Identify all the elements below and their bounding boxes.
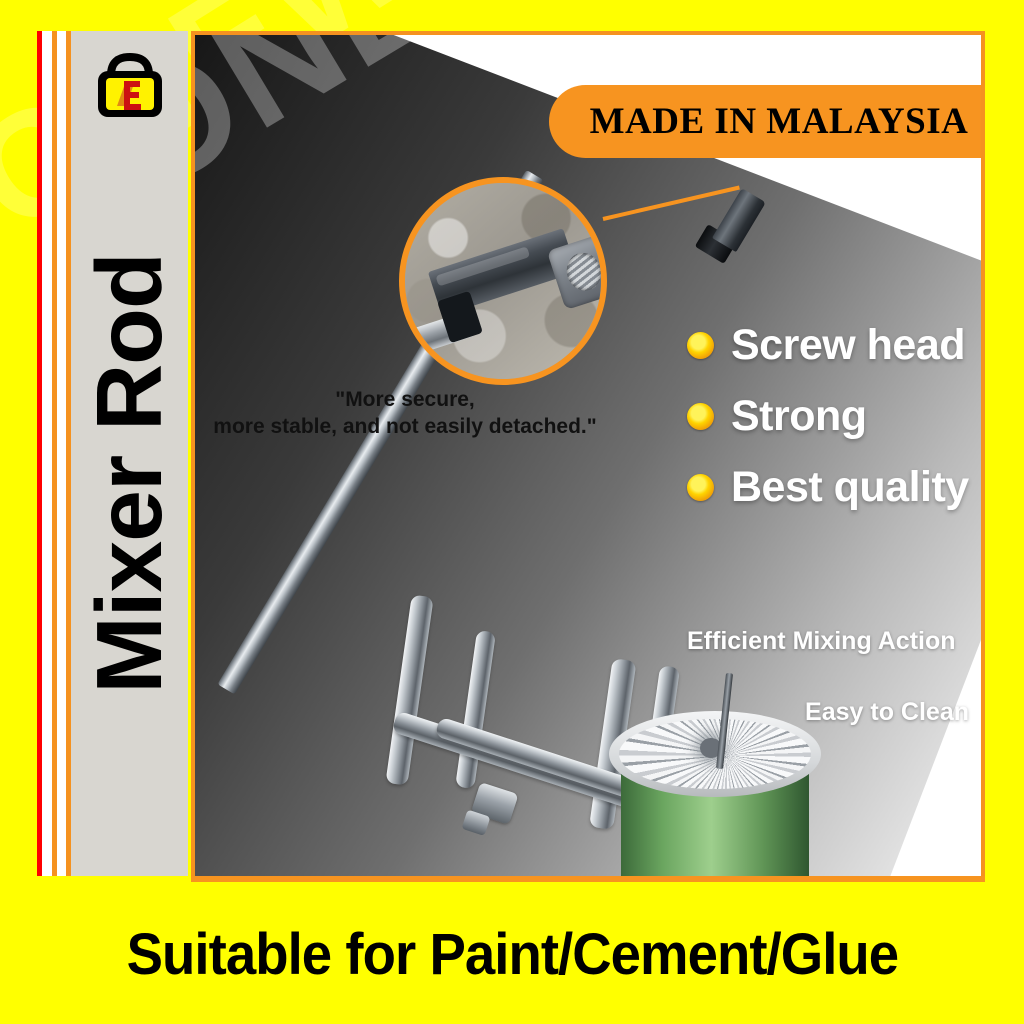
bullet-dot-icon [687,403,714,430]
page-title: Mixer Rod [71,31,188,876]
sub-feature-line2: Easy to Clean [687,698,981,727]
product-image-stage: ONEWAREHOUSE [191,31,985,876]
banner-divider [191,876,985,882]
bottom-banner: Suitable for Paint/Cement/Glue [0,884,1024,1024]
bullet-dot-icon [687,474,714,501]
magnifier-detail-circle [399,177,607,385]
left-white-stripe-1 [42,31,52,876]
sub-feature-list: Efficient Mixing Action Easy to Clean [687,627,981,727]
left-orange-stripe-1 [52,31,57,876]
left-white-stripe-2 [57,31,66,876]
feature-bullet-list: Screw head Strong Best quality [687,321,969,534]
bottom-banner-label: Suitable for Paint/Cement/Glue [126,921,898,988]
feature-bullet-item: Screw head [687,321,969,370]
feature-bullet-label: Best quality [731,463,969,512]
made-in-malaysia-label: MADE IN MALAYSIA [590,100,969,143]
vertical-title-panel: Mixer Rod [71,31,188,876]
loupe-thread-hole [562,248,606,295]
product-poster: ONEWAREHOUSE Mixer Rod ONEWAREHOUSE [0,0,1024,1024]
toolbox-logo [91,51,169,123]
left-red-stripe [37,31,42,876]
feature-bullet-label: Strong [731,392,867,441]
made-in-malaysia-badge: MADE IN MALAYSIA [549,85,981,158]
detail-caption-line1: "More secure, [195,387,615,414]
feature-bullet-item: Best quality [687,463,969,512]
detail-caption-line2: more stable, and not easily detached." [195,414,615,441]
feature-bullet-label: Screw head [731,321,965,370]
detail-caption: "More secure, more stable, and not easil… [195,387,615,441]
page-title-text: Mixer Rod [83,253,176,694]
paint-swirl [619,719,811,789]
bullet-dot-icon [687,332,714,359]
feature-bullet-item: Strong [687,392,969,441]
sub-feature-line1: Efficient Mixing Action [687,627,981,656]
